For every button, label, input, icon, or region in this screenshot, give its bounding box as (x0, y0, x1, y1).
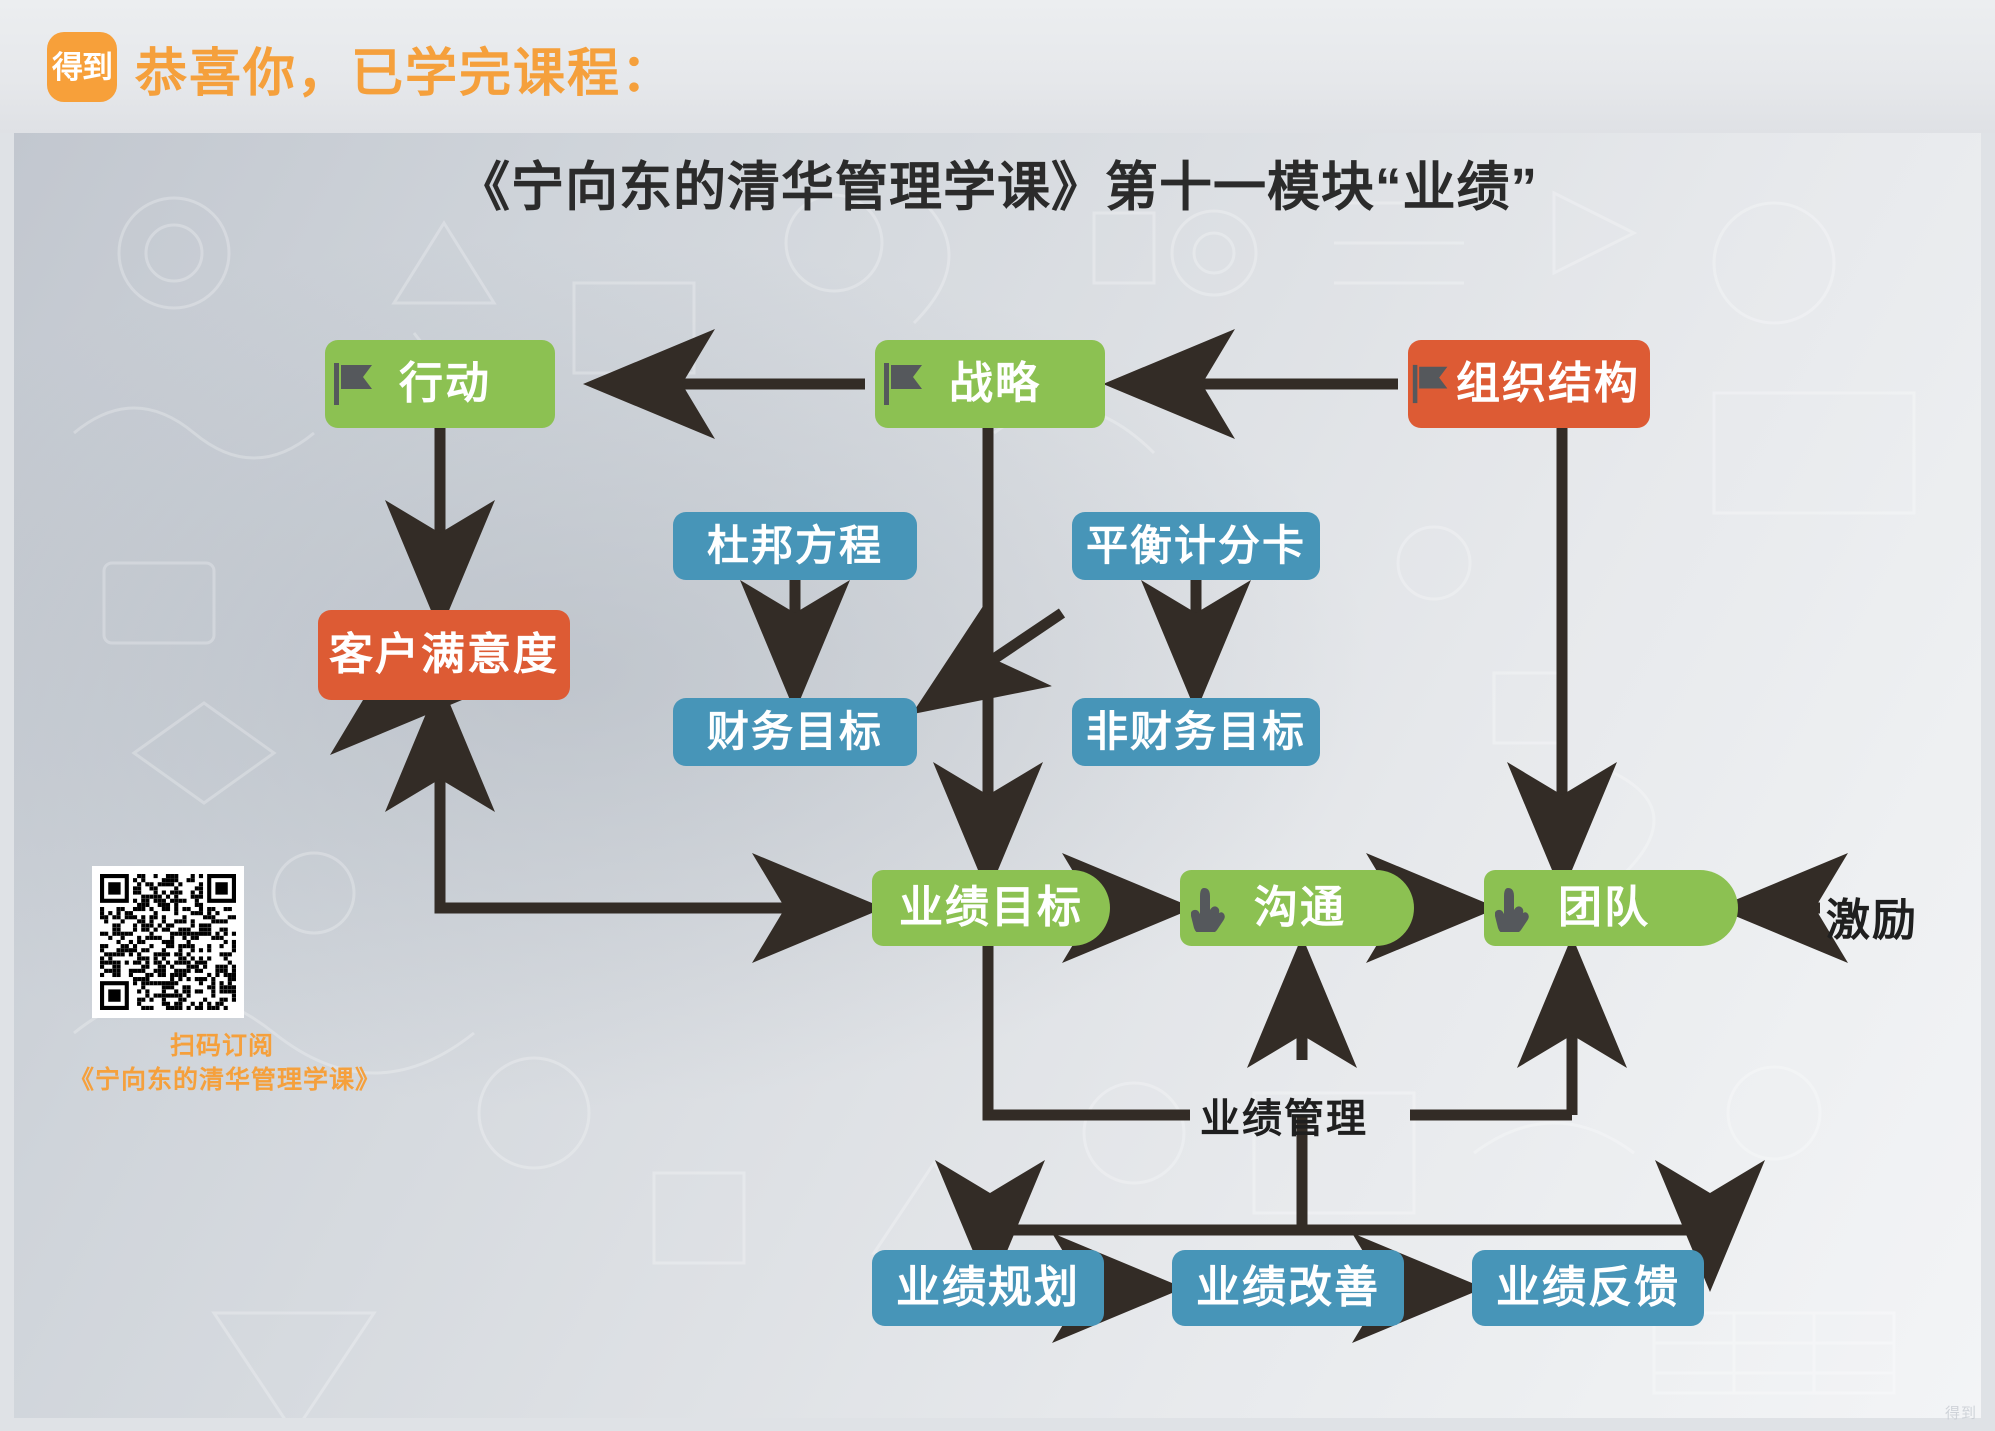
node-performance-goal-label: 业绩目标 (883, 886, 1099, 930)
corner-watermark: 得到 (1945, 1402, 1977, 1423)
node-balanced-scorecard-label: 平衡计分卡 (1070, 525, 1322, 567)
node-dupont[interactable]: 杜邦方程 (673, 512, 917, 580)
node-customer-satisfaction[interactable]: 客户满意度 (318, 610, 570, 700)
node-performance-management: 业绩管理 (1200, 1086, 1368, 1144)
node-customer-satisfaction-label: 客户满意度 (313, 633, 575, 677)
flag-icon (1408, 340, 1454, 428)
page-title: 《宁向东的清华管理学课》第十一模块“业绩” (0, 145, 1995, 221)
qr-code[interactable] (92, 866, 244, 1018)
node-dupont-label: 杜邦方程 (691, 525, 899, 567)
node-action[interactable]: 行动 (325, 340, 555, 428)
dedao-logo-icon: 得到 (47, 32, 117, 102)
node-team-label: 团队 (1542, 886, 1666, 930)
node-incentive: 激励 (1826, 884, 1918, 948)
background-doodles-icon (14, 133, 1981, 1418)
qr-code-canvas (100, 874, 236, 1010)
node-communication-label: 沟通 (1238, 886, 1362, 930)
hand-pointing-icon (1484, 870, 1542, 946)
node-perf-improvement-label: 业绩改善 (1180, 1266, 1396, 1310)
congrats-text: 恭喜你，已学完课程： (135, 30, 675, 106)
node-financial-goal-label: 财务目标 (691, 711, 899, 753)
node-nonfinancial-goal[interactable]: 非财务目标 (1072, 698, 1320, 766)
node-perf-planning[interactable]: 业绩规划 (872, 1250, 1104, 1326)
flag-icon (875, 340, 933, 428)
node-org-structure-label: 组织结构 (1454, 362, 1646, 406)
flag-icon (325, 340, 383, 428)
node-perf-feedback-label: 业绩反馈 (1480, 1266, 1696, 1310)
node-financial-goal[interactable]: 财务目标 (673, 698, 917, 766)
node-team[interactable]: 团队 (1484, 870, 1738, 946)
node-communication[interactable]: 沟通 (1180, 870, 1414, 946)
node-nonfinancial-goal-label: 非财务目标 (1070, 711, 1322, 753)
dedao-logo-text: 得到 (52, 52, 112, 83)
node-perf-feedback[interactable]: 业绩反馈 (1472, 1250, 1704, 1326)
node-strategy-label: 战略 (933, 362, 1057, 406)
node-perf-planning-label: 业绩规划 (880, 1266, 1096, 1310)
node-strategy[interactable]: 战略 (875, 340, 1105, 428)
node-org-structure[interactable]: 组织结构 (1408, 340, 1650, 428)
diagram-canvas (14, 133, 1981, 1418)
slide-canvas: 得到 恭喜你，已学完课程： (0, 0, 1995, 1431)
node-performance-goal[interactable]: 业绩目标 (872, 870, 1110, 946)
qr-caption-subscribe: 扫码订阅 (92, 1026, 352, 1062)
node-perf-improvement[interactable]: 业绩改善 (1172, 1250, 1404, 1326)
node-action-label: 行动 (383, 362, 507, 406)
hand-pointing-icon (1180, 870, 1238, 946)
qr-caption-course: 《宁向东的清华管理学课》 (50, 1060, 400, 1096)
node-balanced-scorecard[interactable]: 平衡计分卡 (1072, 512, 1320, 580)
